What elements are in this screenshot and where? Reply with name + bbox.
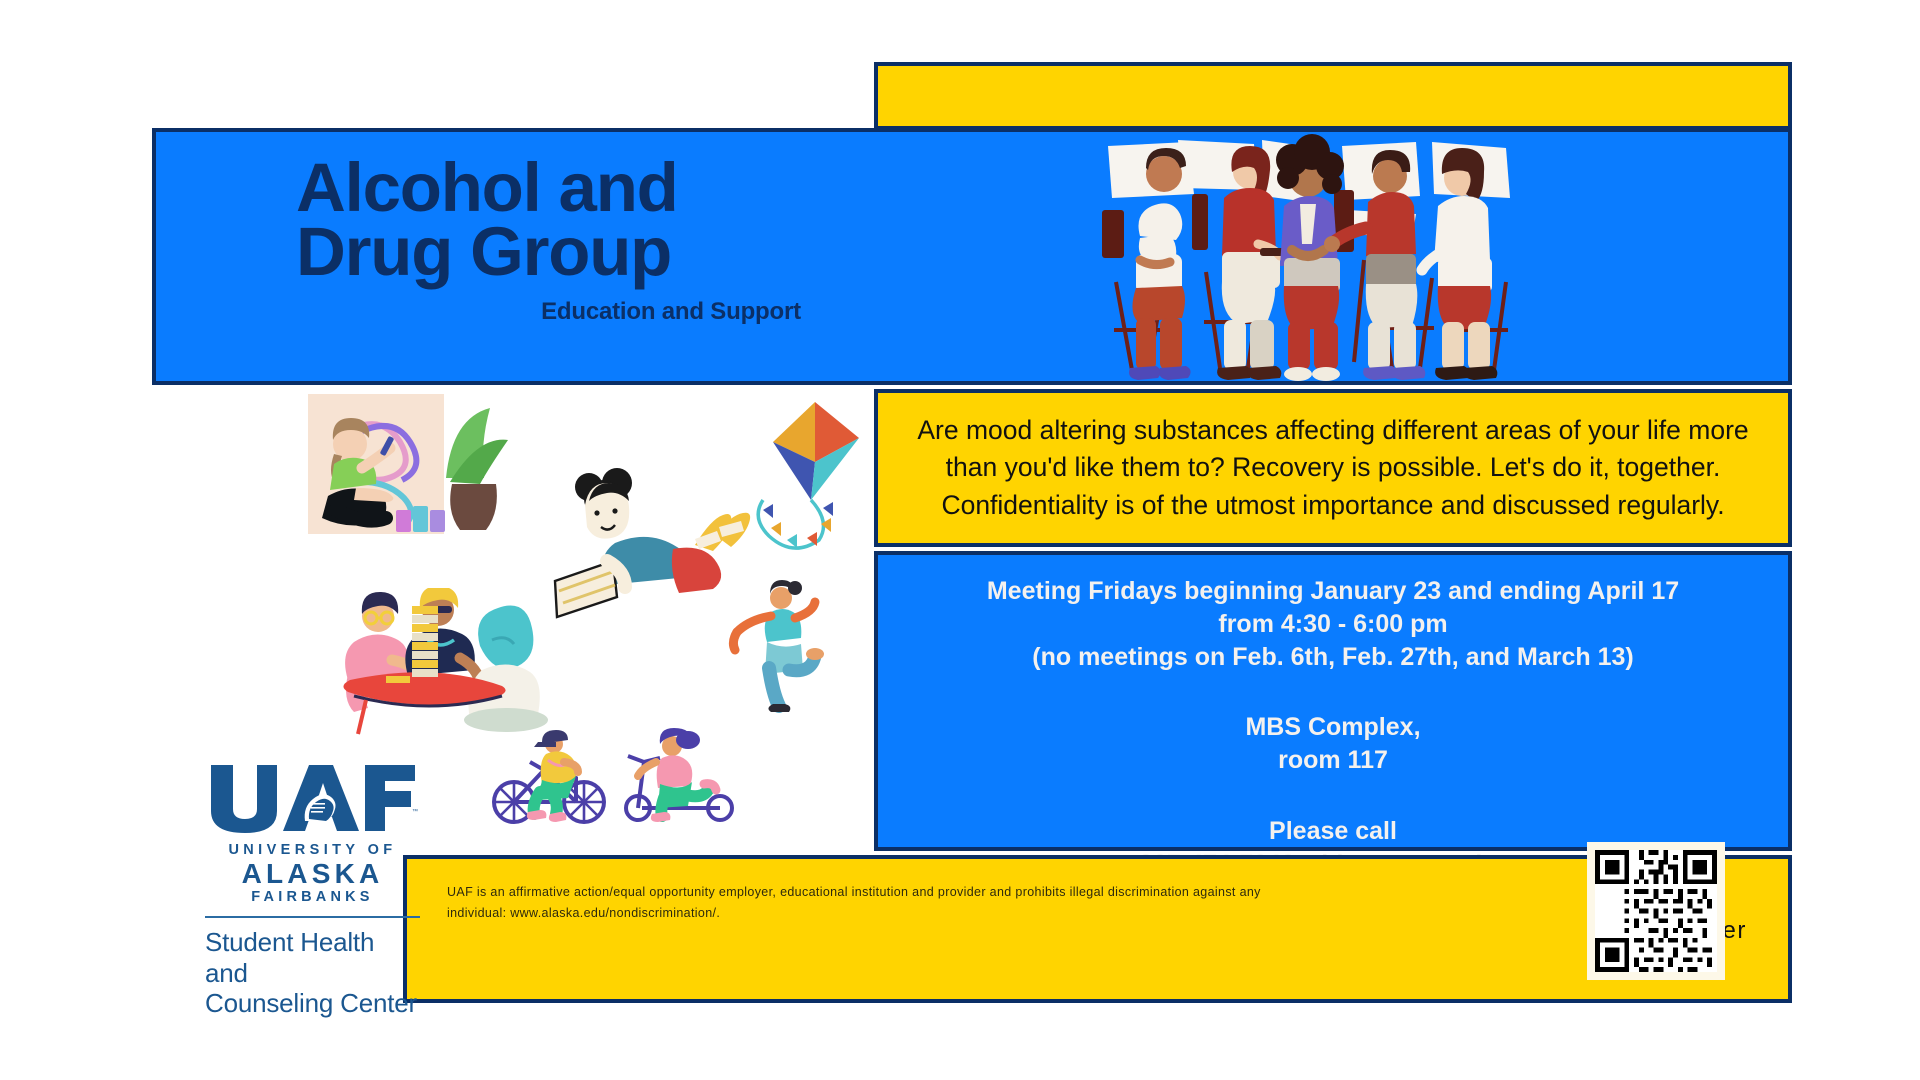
friends-playing-games-illustration	[340, 588, 555, 748]
qr-code[interactable]	[1587, 842, 1725, 980]
intro-paragraph-text: Are mood altering substances affecting d…	[878, 412, 1788, 525]
uaf-wordmark: ™	[205, 763, 420, 835]
title-block: Alcohol and Drug Group Education and Sup…	[296, 156, 986, 326]
svg-text:™: ™	[412, 808, 418, 815]
uaf-alaska: ALASKA	[205, 858, 420, 889]
kite-illustration	[755, 398, 880, 558]
person-on-scooter-illustration	[620, 728, 735, 825]
uaf-subtitle: UNIVERSITY OF ALASKA FAIRBANKS	[205, 842, 420, 905]
top-accent-bar	[874, 62, 1792, 130]
uaf-fairbanks: FAIRBANKS	[205, 889, 420, 905]
location-line-1: MBS Complex,	[878, 711, 1788, 744]
header-band: Alcohol and Drug Group Education and Sup…	[152, 128, 1792, 385]
support-group-illustration	[1102, 132, 1520, 381]
meeting-details-block: Meeting Fridays beginning January 23 and…	[874, 551, 1792, 851]
department-name: Student Health and Counseling Center	[205, 927, 420, 1017]
person-doing-yoga-illustration	[715, 580, 840, 715]
uaf-logo: ™ UNIVERSITY OF ALASKA FAIRBANKS Student…	[205, 763, 420, 1018]
person-cycling-illustration	[490, 730, 610, 825]
schedule-group: Meeting Fridays beginning January 23 and…	[878, 575, 1788, 674]
uaf-university-of: UNIVERSITY OF	[205, 842, 420, 858]
footer-bar: UAF is an affirmative action/equal oppor…	[403, 855, 1792, 1003]
schedule-line-2: from 4:30 - 6:00 pm	[878, 608, 1788, 641]
schedule-line-3: (no meetings on Feb. 6th, Feb. 27th, and…	[878, 641, 1788, 674]
poster-canvas: Alcohol and Drug Group Education and Sup…	[0, 0, 1920, 1080]
page-subtitle: Education and Support	[296, 298, 986, 326]
nondiscrimination-disclaimer: UAF is an affirmative action/equal oppor…	[447, 882, 1287, 923]
schedule-line-1: Meeting Fridays beginning January 23 and…	[878, 575, 1788, 608]
intro-paragraph-block: Are mood altering substances affecting d…	[874, 389, 1792, 547]
page-title: Alcohol and Drug Group	[296, 156, 986, 284]
title-line-2: Drug Group	[296, 220, 986, 284]
location-group: MBS Complex, room 117	[878, 711, 1788, 777]
location-line-2: room 117	[878, 744, 1788, 777]
person-painting-illustration	[300, 392, 540, 582]
logo-divider	[205, 916, 420, 918]
